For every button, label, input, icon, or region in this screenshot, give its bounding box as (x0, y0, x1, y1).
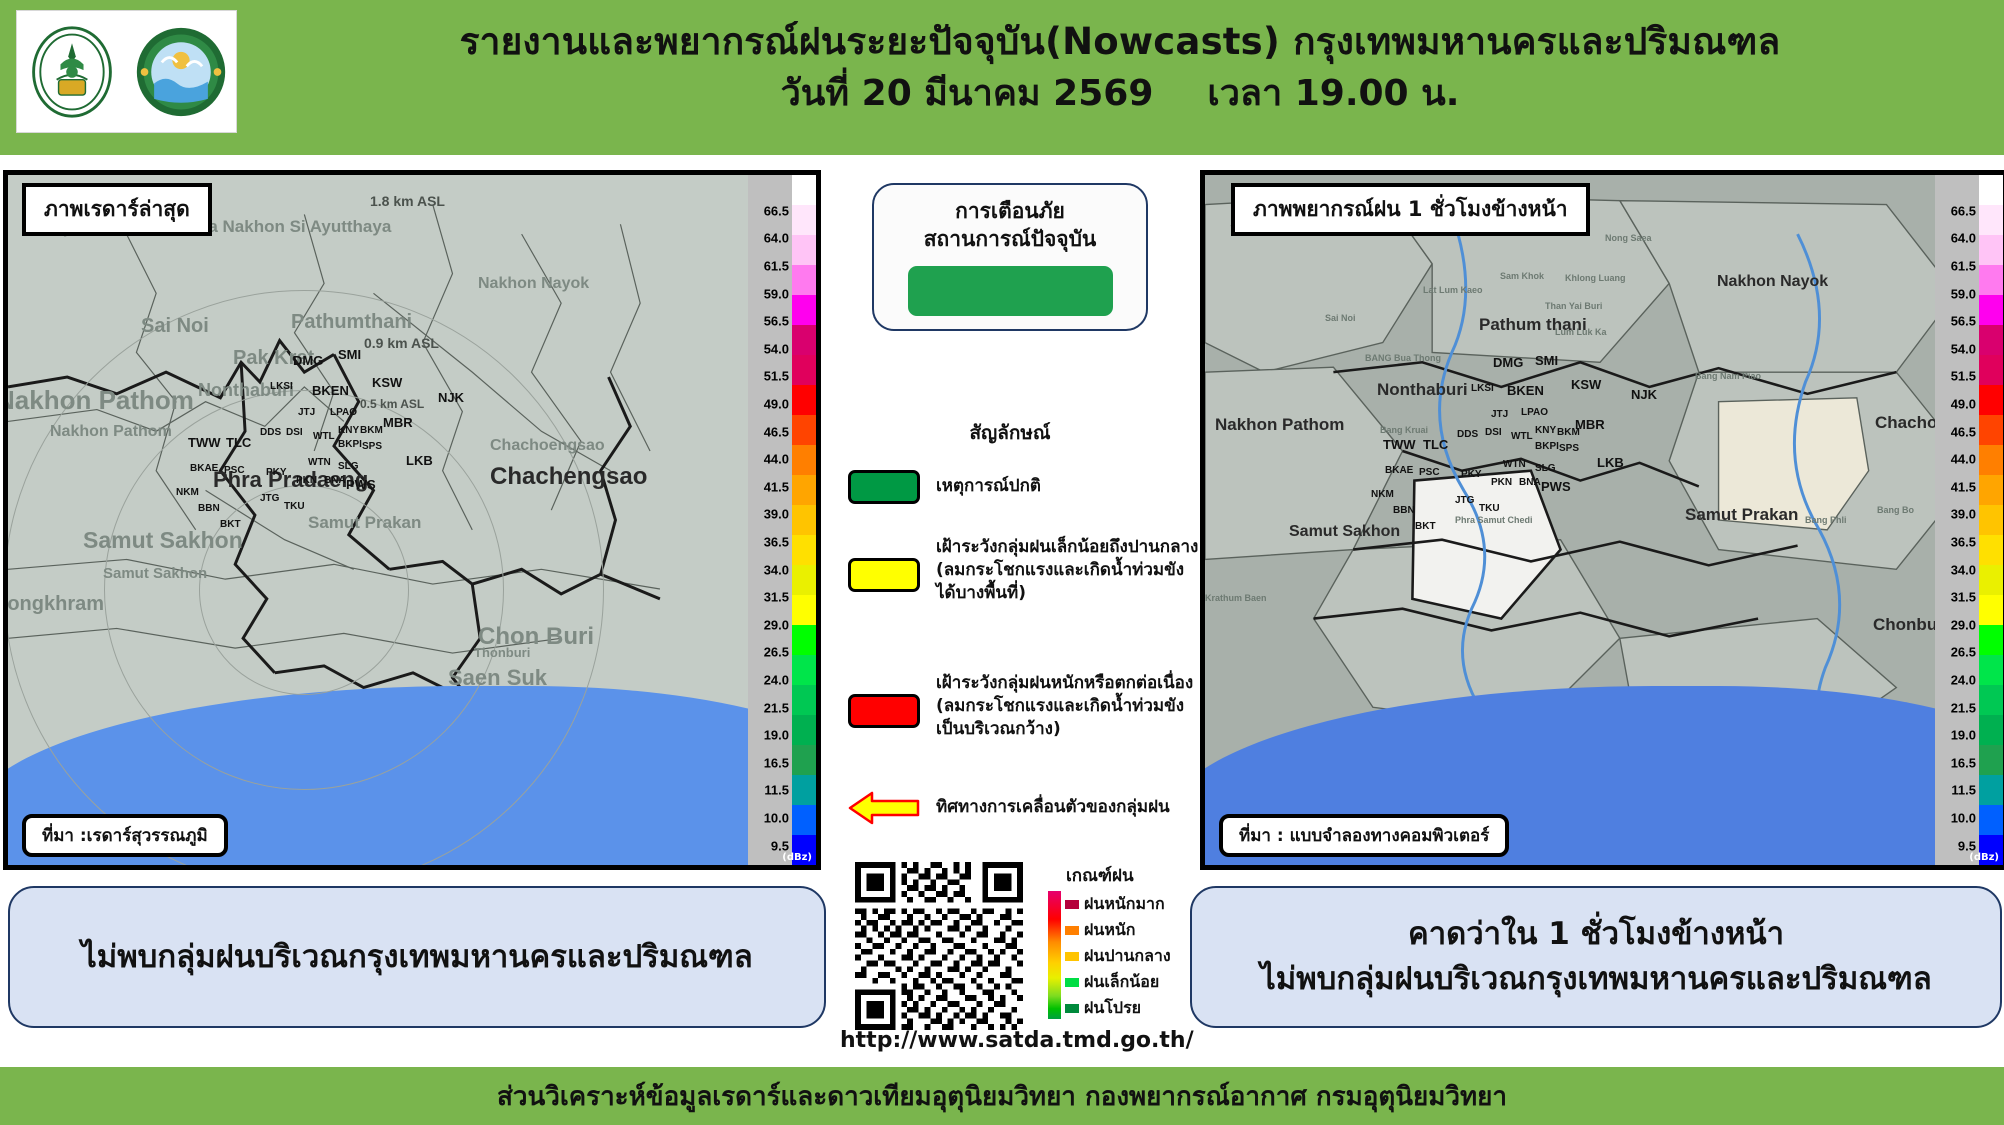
colorbar-tick: 61.5 (1951, 259, 1976, 274)
current-situation-text: ไม่พบกลุ่มฝนบริเวณกรุงเทพมหานครและปริมณฑ… (81, 935, 753, 980)
radar-panel-title: ภาพเรดาร์ล่าสุด (22, 183, 212, 236)
colorbar-tick: 9.5 (771, 838, 789, 853)
district-code: DSI (1485, 427, 1502, 438)
legend-swatch-yellow (848, 558, 920, 592)
colorbar-tick: 26.5 (1951, 645, 1976, 660)
rain-scale-items: ฝนหนักมาก ฝนหนัก ฝนปานกลาง ฝนเล็กน้อย ฝน… (1065, 891, 1171, 1021)
footer-text: ส่วนวิเคราะห์ข้อมูลเรดาร์และดาวเทียมอุตุ… (497, 1076, 1507, 1117)
legend-label: เฝ้าระวังกลุ่มฝนหนักหรือตกต่อเนื่อง (ลมก… (936, 672, 1193, 741)
radar-source-label: ที่มา :เรดาร์สุวรรณภูมิ (22, 814, 228, 857)
colorbar-tick: 44.0 (1951, 452, 1976, 467)
qr-code-icon[interactable] (855, 862, 1023, 1030)
district-code: BKEN (312, 383, 349, 398)
colorbar-tick: 59.0 (764, 286, 789, 301)
colorbar-band (1979, 205, 2003, 235)
rain-scale-label: ฝนโปรย (1084, 996, 1141, 1021)
colorbar-tick: 21.5 (1951, 700, 1976, 715)
colorbar-band (792, 235, 816, 265)
rain-scale-swatch (1065, 978, 1079, 987)
colorbar-tick: 10.0 (1951, 811, 1976, 826)
legend-label: ทิศทางการเคลื่อนตัวของกลุ่มฝน (936, 796, 1170, 819)
district-code: TLC (226, 435, 251, 450)
page-title-line1: รายงานและพยากรณ์ฝนระยะปัจจุบัน(Nowcasts)… (260, 18, 1980, 65)
district-code: LPAO (330, 407, 357, 418)
colorbar-tick: 46.5 (1951, 424, 1976, 439)
rain-scale-title: เกณฑ์ฝน (1066, 862, 1188, 889)
colorbar-tick: 34.0 (1951, 562, 1976, 577)
colorbar-band (1979, 355, 2003, 385)
altitude-label-1: 1.8 km ASL (370, 193, 445, 209)
report-date: วันที่ 20 มีนาคม 2569 (781, 73, 1154, 114)
colorbar-tick: 39.0 (1951, 507, 1976, 522)
colorbar-tick: 19.0 (764, 728, 789, 743)
rain-scale-item: ฝนโปรย (1065, 995, 1171, 1021)
district-code: LKSI (1471, 383, 1494, 394)
colorbar-band (792, 205, 816, 235)
colorbar-tick: 66.5 (1951, 203, 1976, 218)
radar-range-ring-outer (4, 290, 604, 870)
colorbar-band (1979, 715, 2003, 745)
district-code: BNA (1519, 477, 1541, 488)
district-code: JTG (260, 493, 279, 504)
rain-scale-swatch (1065, 926, 1079, 935)
district-code: BKPI (338, 439, 362, 450)
radar-map-panel[interactable]: 1.8 km ASL 0.9 km ASL 0.5 km ASL Suphan … (3, 170, 821, 870)
district-code: LKSI (270, 381, 293, 392)
colorbar-band (792, 355, 816, 385)
district-code: NKM (1371, 489, 1394, 500)
colorbar-band (1979, 235, 2003, 265)
reflectivity-colorbar: 66.564.061.559.056.554.051.549.046.544.0… (1935, 175, 2003, 865)
colorbar-band (792, 625, 816, 655)
page-footer: ส่วนวิเคราะห์ข้อมูลเรดาร์และดาวเทียมอุตุ… (0, 1067, 2004, 1125)
colorbar-tick: 54.0 (1951, 341, 1976, 356)
colorbar-band (792, 655, 816, 685)
colorbar-band (792, 805, 816, 835)
district-code: SLG (1535, 463, 1556, 474)
symbols-title: สัญลักษณ์ (872, 418, 1148, 448)
district-code: PSC (224, 465, 245, 476)
reflectivity-colorbar: 66.564.061.559.056.554.051.549.046.544.0… (748, 175, 816, 865)
colorbar-unit: (dBz) (1969, 852, 1999, 863)
tmd-seal-icon (133, 24, 229, 120)
colorbar-tick: 34.0 (764, 562, 789, 577)
legend-swatch-red (848, 694, 920, 728)
forecast-message-line2: ไม่พบกลุ่มฝนบริเวณกรุงเทพมหานครและปริมณฑ… (1260, 957, 1932, 1002)
colorbar-tick: 29.0 (1951, 617, 1976, 632)
colorbar-band (792, 415, 816, 445)
colorbar-tick: 16.5 (1951, 755, 1976, 770)
colorbar-band (1979, 445, 2003, 475)
colorbar-band (792, 715, 816, 745)
colorbar-tick: 31.5 (764, 590, 789, 605)
warning-card-line1: การเตือนภัย (874, 197, 1146, 225)
district-code: JTJ (1491, 409, 1508, 420)
district-code: DSI (286, 427, 303, 438)
colorbar-tick: 41.5 (764, 479, 789, 494)
district-code: SPS (1559, 443, 1579, 454)
district-code: BKT (1415, 521, 1436, 532)
altitude-label-2: 0.9 km ASL (364, 335, 439, 351)
colorbar-tick: 46.5 (764, 424, 789, 439)
legend-light-moderate: เฝ้าระวังกลุ่มฝนเล็กน้อยถึงปานกลาง (ลมกร… (848, 536, 1198, 605)
colorbar-band (1979, 325, 2003, 355)
colorbar-tick: 11.5 (1951, 783, 1976, 798)
colorbar-band (1979, 685, 2003, 715)
district-code: BKAE (190, 463, 218, 474)
district-code: DMG (293, 353, 323, 368)
colorbar-tick-labels: 66.564.061.559.056.554.051.549.046.544.0… (748, 175, 792, 865)
district-code: BKEN (1507, 383, 1544, 398)
forecast-source-label: ที่มา : แบบจำลองทางคอมพิวเตอร์ (1219, 814, 1509, 857)
district-code: TKU (284, 501, 305, 512)
rain-scale-label: ฝนหนัก (1084, 918, 1135, 943)
rain-scale-item: ฝนปานกลาง (1065, 943, 1171, 969)
district-code: PKN (1491, 477, 1512, 488)
colorbar-gradient (792, 175, 816, 865)
colorbar-tick: 11.5 (764, 783, 789, 798)
colorbar-band (1979, 265, 2003, 295)
colorbar-band (1979, 505, 2003, 535)
colorbar-tick: 26.5 (764, 645, 789, 660)
page-title: รายงานและพยากรณ์ฝนระยะปัจจุบัน(Nowcasts)… (260, 18, 1980, 117)
district-code: WTL (313, 431, 335, 442)
district-code: PWS (346, 477, 376, 492)
district-code: SMI (338, 347, 361, 362)
district-code: SLG (338, 461, 359, 472)
district-code: KSW (372, 375, 402, 390)
district-code: SMI (1535, 353, 1558, 368)
colorbar-band (792, 775, 816, 805)
forecast-message: คาดว่าใน 1 ชั่วโมงข้างหน้า ไม่พบกลุ่มฝนบ… (1190, 886, 2002, 1028)
colorbar-tick: 64.0 (1951, 231, 1976, 246)
district-code: LKB (406, 453, 433, 468)
district-code: JTG (1455, 495, 1474, 506)
district-code: KSW (1571, 377, 1601, 392)
colorbar-tick: 56.5 (764, 314, 789, 329)
rain-scale-item: ฝนหนักมาก (1065, 891, 1171, 917)
legend-movement-direction: ทิศทางการเคลื่อนตัวของกลุ่มฝน (848, 790, 1170, 826)
colorbar-band (1979, 385, 2003, 415)
district-code: NKM (176, 487, 199, 498)
district-code: LPAO (1521, 407, 1548, 418)
colorbar-tick: 10.0 (764, 811, 789, 826)
forecast-map-canvas: Suphan Buri Phra Nakhon Si Ayutthaya Non… (1205, 175, 2003, 865)
district-code: JTJ (298, 407, 315, 418)
colorbar-tick: 44.0 (764, 452, 789, 467)
colorbar-tick: 19.0 (1951, 728, 1976, 743)
colorbar-tick: 9.5 (1958, 838, 1976, 853)
district-code: KNY (1535, 425, 1556, 436)
rain-scale-label: ฝนหนักมาก (1084, 892, 1165, 917)
altitude-label-3: 0.5 km ASL (360, 397, 424, 411)
colorbar-tick: 59.0 (1951, 286, 1976, 301)
district-code: WTN (1503, 459, 1526, 470)
district-code: TKU (1479, 503, 1500, 514)
district-code: WTN (308, 457, 331, 468)
current-situation-message: ไม่พบกลุ่มฝนบริเวณกรุงเทพมหานครและปริมณฑ… (8, 886, 826, 1028)
colorbar-band (1979, 175, 2003, 205)
district-code: BBN (198, 503, 220, 514)
colorbar-tick: 31.5 (1951, 590, 1976, 605)
warning-status-card: การเตือนภัย สถานการณ์ปัจจุบัน (872, 183, 1148, 331)
rain-scale-swatch (1065, 952, 1079, 961)
colorbar-band (792, 565, 816, 595)
colorbar-band (792, 385, 816, 415)
district-code: PWS (1541, 479, 1571, 494)
colorbar-tick: 66.5 (764, 203, 789, 218)
colorbar-band (792, 685, 816, 715)
colorbar-band (792, 505, 816, 535)
forecast-message-line1: คาดว่าใน 1 ชั่วโมงข้างหน้า (1408, 912, 1784, 957)
rain-scale-swatch (1065, 1004, 1079, 1013)
colorbar-unit: (dBz) (782, 852, 812, 863)
rain-scale-item: ฝนหนัก (1065, 917, 1171, 943)
colorbar-band (792, 445, 816, 475)
colorbar-tick: 49.0 (764, 397, 789, 412)
colorbar-tick: 41.5 (1951, 479, 1976, 494)
legend-swatch-green (848, 470, 920, 504)
colorbar-band (792, 475, 816, 505)
status-badge (908, 266, 1113, 316)
colorbar-gradient (1979, 175, 2003, 865)
district-code: TWW (188, 435, 220, 450)
district-code: DDS (260, 427, 281, 438)
colorbar-band (1979, 295, 2003, 325)
legend-label: เฝ้าระวังกลุ่มฝนเล็กน้อยถึงปานกลาง (ลมกร… (936, 536, 1198, 605)
colorbar-tick: 39.0 (764, 507, 789, 522)
rain-intensity-scale: เกณฑ์ฝน ฝนหนักมาก ฝนหนัก ฝนปานกลาง (1048, 862, 1188, 1021)
district-code: KNY (338, 425, 359, 436)
district-code: BKM (1557, 427, 1580, 438)
page-title-line2: วันที่ 20 มีนาคม 2569เวลา 19.00 น. (260, 71, 1980, 117)
rain-scale-swatch (1065, 900, 1079, 909)
colorbar-band (792, 745, 816, 775)
colorbar-tick: 51.5 (1951, 369, 1976, 384)
district-code: NJK (438, 390, 464, 405)
district-code: BNA (324, 475, 346, 486)
colorbar-band (1979, 565, 2003, 595)
district-code: DDS (1457, 429, 1478, 440)
left-arrow-icon (848, 790, 920, 826)
nowcast-page: รายงานและพยากรณ์ฝนระยะปัจจุบัน(Nowcasts)… (0, 0, 2004, 1125)
agency-logos (16, 10, 237, 133)
district-code: WTL (1511, 431, 1533, 442)
district-code: BKAE (1385, 465, 1413, 476)
legend-normal: เหตุการณ์ปกติ (848, 470, 1041, 504)
page-header: รายงานและพยากรณ์ฝนระยะปัจจุบัน(Nowcasts)… (0, 0, 2004, 155)
colorbar-tick: 16.5 (764, 755, 789, 770)
district-code: SPS (362, 441, 382, 452)
colorbar-tick: 56.5 (1951, 314, 1976, 329)
district-code: PKY (266, 467, 287, 478)
warning-card-line2: สถานการณ์ปัจจุบัน (874, 225, 1146, 253)
colorbar-tick: 21.5 (764, 700, 789, 715)
district-code: PSC (1419, 467, 1440, 478)
forecast-panel-title: ภาพพยากรณ์ฝน 1 ชั่วโมงข้างหน้า (1231, 183, 1590, 236)
rain-scale-gradient (1048, 891, 1061, 1019)
rain-scale-item: ฝนเล็กน้อย (1065, 969, 1171, 995)
colorbar-tick: 54.0 (764, 341, 789, 356)
district-code: MBR (383, 415, 413, 430)
colorbar-tick: 49.0 (1951, 397, 1976, 412)
district-code: LKB (1597, 455, 1624, 470)
colorbar-band (1979, 775, 2003, 805)
district-code: NJK (1631, 387, 1657, 402)
report-time: เวลา 19.00 น. (1207, 73, 1459, 114)
colorbar-band (1979, 745, 2003, 775)
colorbar-band (792, 595, 816, 625)
colorbar-band (1979, 595, 2003, 625)
colorbar-band (792, 325, 816, 355)
colorbar-tick: 51.5 (764, 369, 789, 384)
colorbar-band (792, 265, 816, 295)
colorbar-tick: 24.0 (1951, 673, 1976, 688)
colorbar-band (1979, 535, 2003, 565)
website-url[interactable]: http://www.satda.tmd.go.th/ (840, 1028, 1190, 1053)
colorbar-band (1979, 415, 2003, 445)
colorbar-tick-labels: 66.564.061.559.056.554.051.549.046.544.0… (1935, 175, 1979, 865)
colorbar-tick: 24.0 (764, 673, 789, 688)
colorbar-band (1979, 475, 2003, 505)
colorbar-tick: 36.5 (764, 535, 789, 550)
legend-heavy: เฝ้าระวังกลุ่มฝนหนักหรือตกต่อเนื่อง (ลมก… (848, 672, 1193, 741)
colorbar-band (792, 535, 816, 565)
colorbar-band (792, 175, 816, 205)
royal-seal-icon (24, 24, 120, 120)
colorbar-tick: 61.5 (764, 259, 789, 274)
district-code: BBN (1393, 505, 1415, 516)
district-code: TWW (1383, 437, 1415, 452)
colorbar-tick: 36.5 (1951, 535, 1976, 550)
colorbar-tick: 29.0 (764, 617, 789, 632)
colorbar-band (1979, 655, 2003, 685)
district-code: DMG (1493, 355, 1523, 370)
district-code: BKPI (1535, 441, 1559, 452)
legend-label: เหตุการณ์ปกติ (936, 475, 1041, 498)
forecast-map-panel[interactable]: Suphan Buri Phra Nakhon Si Ayutthaya Non… (1200, 170, 2004, 870)
district-code: PKN (296, 475, 317, 486)
colorbar-tick: 64.0 (764, 231, 789, 246)
district-code: BKM (360, 425, 383, 436)
district-code: BKT (220, 519, 241, 530)
radar-map-canvas: 1.8 km ASL 0.9 km ASL 0.5 km ASL Suphan … (8, 175, 816, 865)
rain-scale-label: ฝนปานกลาง (1084, 944, 1171, 969)
rain-scale-label: ฝนเล็กน้อย (1084, 970, 1159, 995)
colorbar-band (1979, 625, 2003, 655)
colorbar-band (1979, 805, 2003, 835)
colorbar-band (792, 295, 816, 325)
district-code: TLC (1423, 437, 1448, 452)
district-code: PKY (1461, 469, 1482, 480)
